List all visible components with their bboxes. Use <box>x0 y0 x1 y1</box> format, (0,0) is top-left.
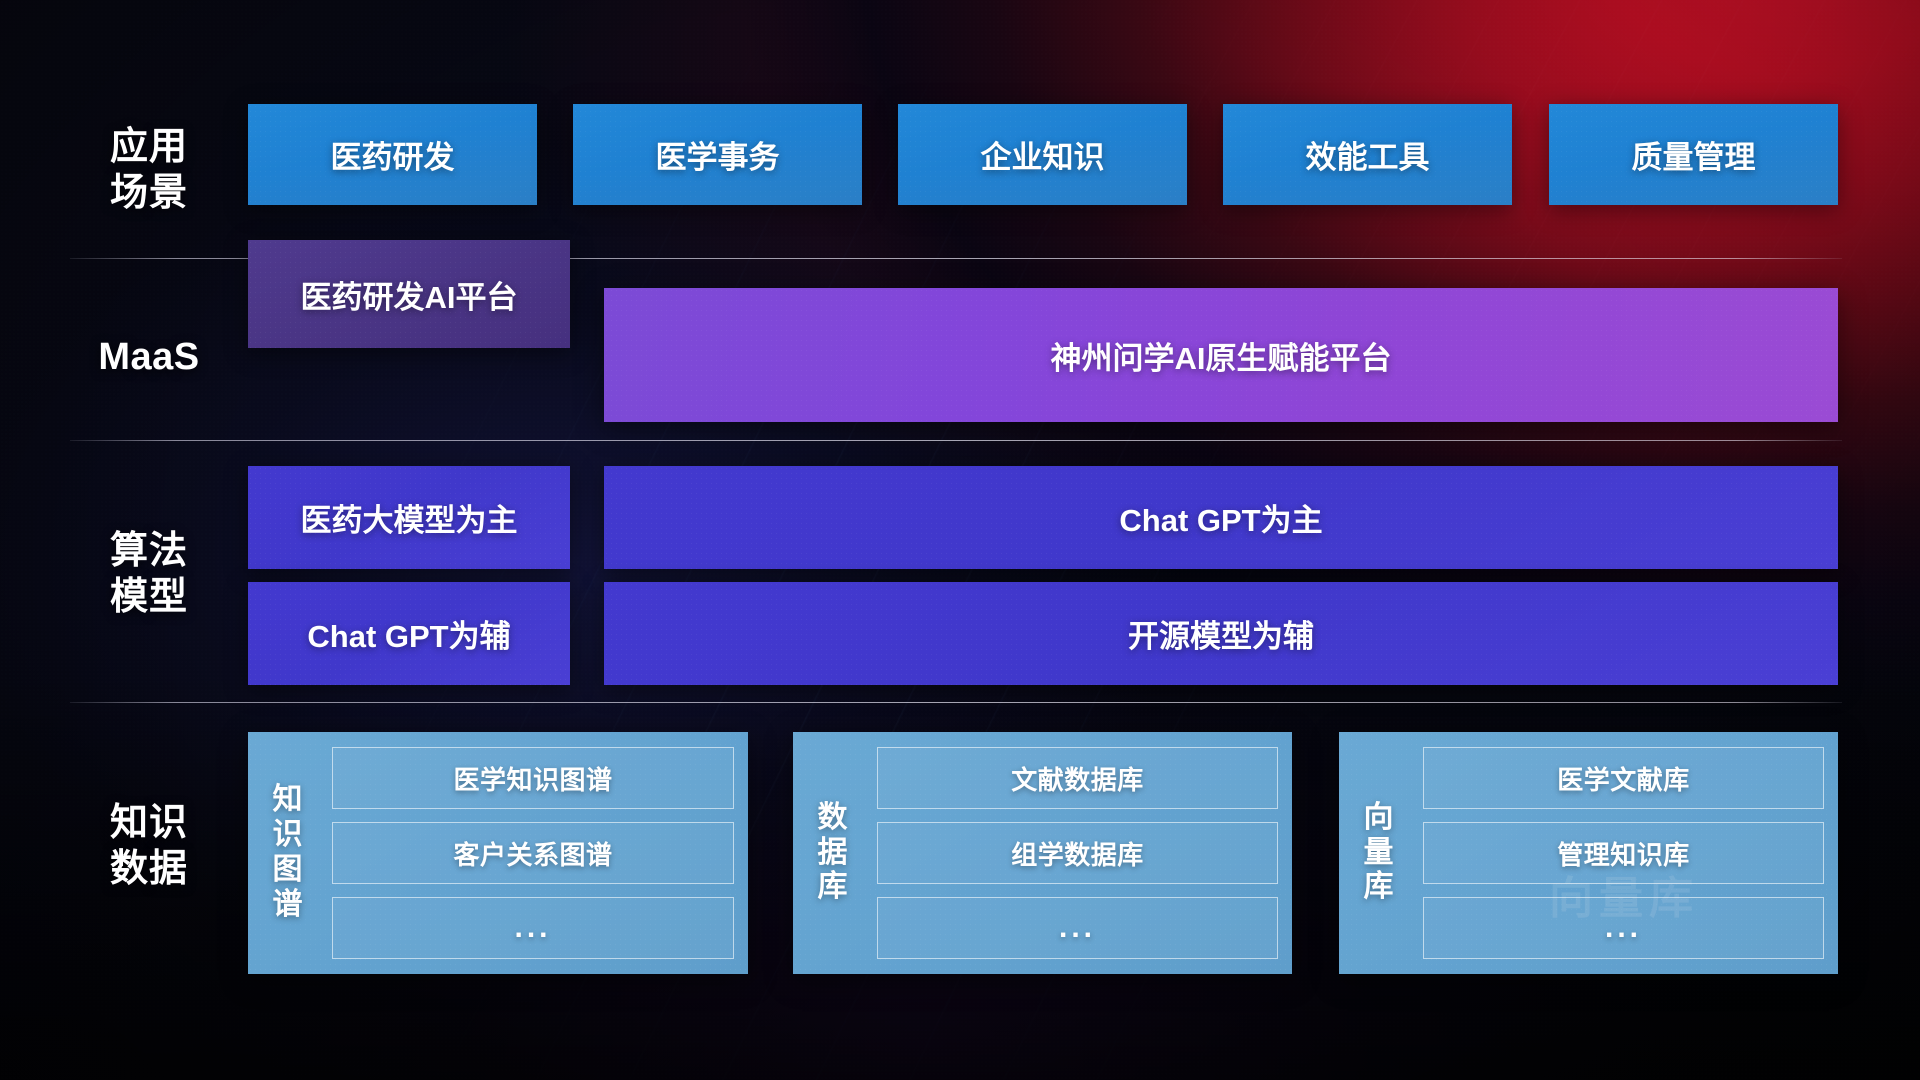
knowledge-panel-vector-store-title: 向量库 <box>1351 745 1407 961</box>
knowledge-item-label: ... <box>514 911 551 945</box>
knowledge-item[interactable]: 管理知识库 <box>1423 822 1824 884</box>
knowledge-panel-knowledge-graph-title: 知识图谱 <box>260 745 316 961</box>
knowledge-item-label: ... <box>1605 911 1642 945</box>
algorithm-left-box-2-label: Chat GPT为辅 <box>307 611 510 656</box>
knowledge-panel-database-items: 文献数据库 组学数据库 ... <box>877 745 1278 961</box>
knowledge-panel-database-title: 数据库 <box>805 745 861 961</box>
algorithm-left-box-1-label: 医药大模型为主 <box>301 495 518 540</box>
scenario-box-2-label: 医学事务 <box>656 132 780 177</box>
knowledge-panel-knowledge-graph[interactable]: 知识图谱 医学知识图谱 客户关系图谱 ... <box>248 732 748 974</box>
knowledge-item-more[interactable]: ... <box>1423 897 1824 959</box>
algorithm-left-box-2[interactable]: Chat GPT为辅 <box>248 582 570 685</box>
divider-maas-algorithm <box>70 440 1842 441</box>
knowledge-item-label: 组学数据库 <box>1011 835 1144 872</box>
algorithm-right-box-2[interactable]: 开源模型为辅 <box>604 582 1838 685</box>
row-label-algorithm: 算法 模型 <box>74 528 224 621</box>
knowledge-panel-vector-store-items: 医学文献库 管理知识库 ... <box>1423 745 1824 961</box>
knowledge-panel-vector-store[interactable]: 向量库 向量库 医学文献库 管理知识库 ... <box>1339 732 1838 974</box>
scenario-box-1[interactable]: 医药研发 <box>248 104 537 205</box>
maas-box-drug-rd-platform[interactable]: 医药研发AI平台 <box>248 240 570 348</box>
architecture-diagram: 应用 场景 医药研发 医学事务 企业知识 效能工具 质量管理 MaaS 医药研发… <box>0 0 1920 1080</box>
knowledge-panel-knowledge-graph-items: 医学知识图谱 客户关系图谱 ... <box>332 745 734 961</box>
scenario-box-3[interactable]: 企业知识 <box>898 104 1187 205</box>
algorithm-right-box-1-label: Chat GPT为主 <box>1119 495 1322 540</box>
row-label-scenario: 应用 场景 <box>74 124 224 217</box>
knowledge-item[interactable]: 客户关系图谱 <box>332 822 734 884</box>
knowledge-item-label: ... <box>1059 911 1096 945</box>
knowledge-item-more[interactable]: ... <box>877 897 1278 959</box>
scenario-box-4-label: 效能工具 <box>1306 132 1430 177</box>
algorithm-left-box-1[interactable]: 医药大模型为主 <box>248 466 570 569</box>
knowledge-item[interactable]: 医学文献库 <box>1423 747 1824 809</box>
maas-box-drug-rd-platform-label: 医药研发AI平台 <box>301 272 518 317</box>
knowledge-item-label: 医学文献库 <box>1557 760 1690 797</box>
algorithm-right-box-2-label: 开源模型为辅 <box>1128 611 1314 656</box>
scenario-box-5[interactable]: 质量管理 <box>1549 104 1838 205</box>
scenario-box-2[interactable]: 医学事务 <box>573 104 862 205</box>
knowledge-item[interactable]: 组学数据库 <box>877 822 1278 884</box>
knowledge-item-label: 文献数据库 <box>1011 760 1144 797</box>
maas-box-shenzhou-wenxue-platform[interactable]: 神州问学AI原生赋能平台 <box>604 288 1838 422</box>
knowledge-panel-database[interactable]: 数据库 文献数据库 组学数据库 ... <box>793 732 1292 974</box>
scenario-box-3-label: 企业知识 <box>981 132 1105 177</box>
divider-algorithm-knowledge <box>70 702 1842 703</box>
scenario-box-5-label: 质量管理 <box>1632 132 1756 177</box>
row-label-knowledge: 知识 数据 <box>74 800 224 893</box>
knowledge-item-label: 管理知识库 <box>1557 835 1690 872</box>
knowledge-item[interactable]: 文献数据库 <box>877 747 1278 809</box>
scenario-box-1-label: 医药研发 <box>331 132 455 177</box>
knowledge-item-label: 医学知识图谱 <box>453 760 612 797</box>
slide-canvas: 应用 场景 医药研发 医学事务 企业知识 效能工具 质量管理 MaaS 医药研发… <box>0 0 1920 1080</box>
knowledge-item-label: 客户关系图谱 <box>453 835 612 872</box>
algorithm-right-box-1[interactable]: Chat GPT为主 <box>604 466 1838 569</box>
knowledge-item-more[interactable]: ... <box>332 897 734 959</box>
row-label-maas: MaaS <box>74 334 224 380</box>
scenario-box-4[interactable]: 效能工具 <box>1223 104 1512 205</box>
knowledge-item[interactable]: 医学知识图谱 <box>332 747 734 809</box>
maas-box-shenzhou-wenxue-platform-label: 神州问学AI原生赋能平台 <box>1051 333 1392 378</box>
